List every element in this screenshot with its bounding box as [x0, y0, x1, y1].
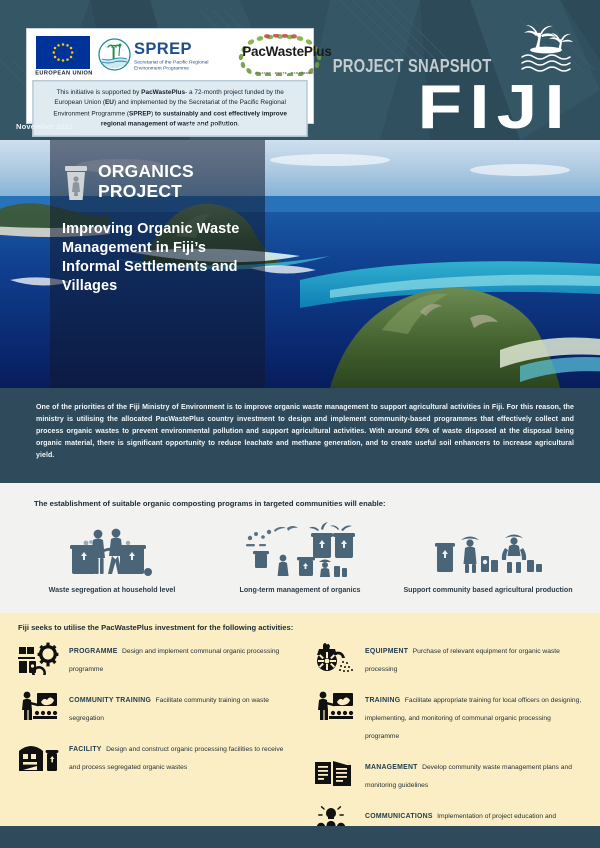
funder-logo-card: EUROPEAN UNION	[26, 28, 314, 124]
hero-heading-row: ORGANICS PROJECT	[62, 162, 262, 202]
activity-item: COMMUNITY TRAINING Facilitate community …	[16, 689, 292, 725]
activities-heading: Fiji seeks to utilise the PacWastePlus i…	[18, 623, 600, 632]
activity-title: COMMUNITY TRAINING	[69, 697, 151, 704]
project-snapshot-page: EUROPEAN UNION	[0, 0, 600, 848]
enable-item-caption: Long-term management of organics	[215, 585, 385, 596]
publication-meta-row: November 2021 ISBN: 978-982-04-1012-1	[0, 118, 600, 134]
household-waste-segregation-icon	[27, 522, 197, 578]
hero-subtitle: Improving Organic Waste Management in Fi…	[62, 220, 262, 297]
activities-left-column: PROGRAMME Design and implement communal …	[8, 640, 300, 848]
activity-title: PROGRAMME	[69, 648, 118, 655]
intro-band: One of the priorities of the Fiji Minist…	[0, 388, 600, 483]
activity-item: TRAINING Facilitate appropriate training…	[312, 689, 584, 743]
documents-management-icon	[312, 756, 356, 792]
enable-heading: The establishment of suitable organic co…	[34, 499, 600, 508]
pacwasteplus-logo: PacWastePlus HAZARD . WASTE . MANAGEMENT	[229, 34, 341, 76]
sprep-text-block: SPREP Secretariat of the Pacific Regiona…	[134, 41, 221, 67]
facility-building-icon	[16, 738, 60, 774]
activity-body: PROGRAMME Design and implement communal …	[69, 640, 292, 676]
activities-columns: PROGRAMME Design and implement communal …	[0, 640, 600, 848]
activities-right-column: EQUIPMENT Purchase of relevant equipment…	[300, 640, 592, 848]
enable-items-row: Waste segregation at household level	[0, 522, 600, 596]
activity-description: Design and construct organic processing …	[69, 746, 283, 771]
organics-management-icon	[215, 522, 385, 578]
activity-item: FACILITY Design and construct organic pr…	[16, 738, 292, 774]
logo-row: EUROPEAN UNION	[32, 33, 308, 77]
enable-item-caption: Support community based agricultural pro…	[403, 585, 573, 596]
activity-body: TRAINING Facilitate appropriate training…	[365, 689, 584, 743]
activity-body: EQUIPMENT Purchase of relevant equipment…	[365, 640, 584, 676]
pacwasteplus-text-block: PacWastePlus HAZARD . WASTE . MANAGEMENT	[242, 43, 330, 79]
sprep-emblem-icon	[98, 38, 131, 71]
activity-title: MANAGEMENT	[365, 764, 418, 771]
hero-banner: ORGANICS PROJECT Improving Organic Waste…	[0, 140, 600, 388]
enable-item: Support community based agricultural pro…	[403, 522, 573, 596]
pacwasteplus-wordmark: PacWastePlus	[242, 44, 331, 59]
enable-item: Long-term management of organics	[215, 522, 385, 596]
european-union-logo: EUROPEAN UNION	[36, 36, 92, 74]
pacwasteplus-tagline: HAZARD . WASTE . MANAGEMENT	[256, 71, 316, 75]
page-header: EUROPEAN UNION	[0, 0, 600, 140]
activity-item: PROGRAMME Design and implement communal …	[16, 640, 292, 676]
intro-paragraph: One of the priorities of the Fiji Minist…	[36, 402, 574, 463]
activity-body: COMMUNITY TRAINING Facilitate community …	[69, 689, 292, 725]
enable-item: Waste segregation at household level	[27, 522, 197, 596]
activity-item: EQUIPMENT Purchase of relevant equipment…	[312, 640, 584, 676]
palm-tree-waves-icon	[514, 22, 576, 74]
equipment-machine-icon	[312, 640, 356, 676]
activity-body: MANAGEMENT Develop community waste manag…	[365, 756, 584, 792]
activity-body: FACILITY Design and construct organic pr…	[69, 738, 292, 774]
activity-title: COMMUNICATIONS	[365, 813, 433, 820]
activity-item: MANAGEMENT Develop community waste manag…	[312, 756, 584, 792]
sprep-subtitle: Secretariat of the Pacific Regional Envi…	[134, 59, 220, 71]
presenter-training-icon	[312, 689, 356, 743]
isbn-number: ISBN: 978-982-04-1012-1	[187, 123, 262, 130]
community-agriculture-icon	[403, 522, 573, 578]
activity-title: TRAINING	[365, 697, 400, 704]
activities-section: Fiji seeks to utilise the PacWastePlus i…	[0, 613, 600, 848]
page-footer-bar	[0, 826, 600, 848]
enable-item-caption: Waste segregation at household level	[27, 585, 197, 596]
activity-title: EQUIPMENT	[365, 648, 408, 655]
eu-logo-caption: EUROPEAN UNION	[21, 70, 108, 76]
gears-programme-icon	[16, 640, 60, 676]
activity-title: FACILITY	[69, 746, 102, 753]
eu-flag-icon	[36, 36, 90, 69]
publication-date: November 2021	[16, 122, 73, 131]
waste-bin-icon	[62, 164, 90, 202]
hero-content: ORGANICS PROJECT Improving Organic Waste…	[62, 162, 262, 297]
hero-project-title: ORGANICS PROJECT	[98, 162, 262, 201]
sprep-wordmark: SPREP	[134, 41, 221, 58]
sprep-logo: SPREP Secretariat of the Pacific Regiona…	[98, 38, 221, 71]
enable-section: The establishment of suitable organic co…	[0, 483, 600, 614]
presenter-training-icon	[16, 689, 60, 725]
